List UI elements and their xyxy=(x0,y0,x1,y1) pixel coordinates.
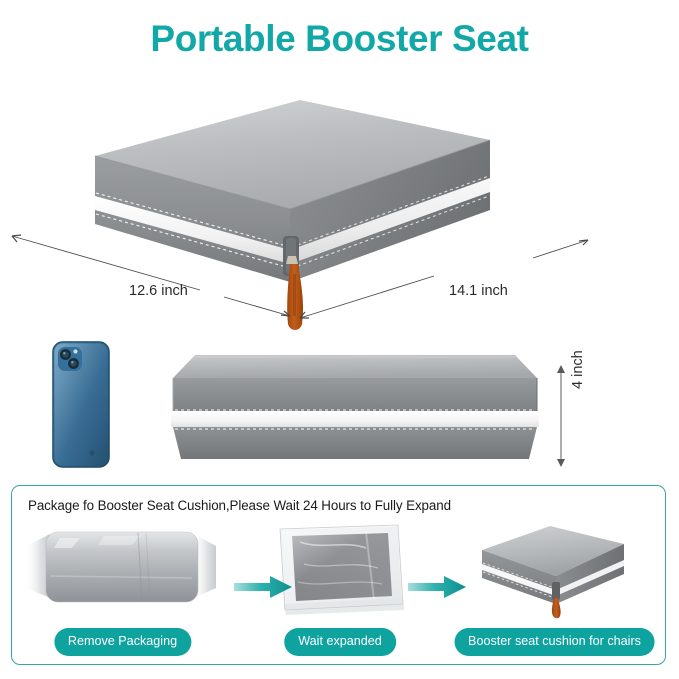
dimension-depth-label: 14.1 inch xyxy=(449,283,508,299)
height-dimension-arrow xyxy=(548,362,574,470)
hero-product-image xyxy=(0,78,679,338)
dimension-width-label: 12.6 inch xyxy=(129,283,188,299)
vertical-arrow-icon xyxy=(548,362,574,470)
package-step-1-caption: Remove Packaging xyxy=(54,628,191,656)
package-step-2-caption: Wait expanded xyxy=(284,628,396,656)
booster-seat-3d-illustration xyxy=(0,78,679,338)
expanded-cushion-icon xyxy=(452,516,657,620)
smartphone-size-reference xyxy=(52,341,110,468)
package-step-3-caption: Booster seat cushion for chairs xyxy=(454,628,655,656)
package-instruction-panel: Package fo Booster Seat Cushion,Please W… xyxy=(11,485,666,665)
package-panel-heading: Package fo Booster Seat Cushion,Please W… xyxy=(28,498,451,513)
package-step-1: Remove Packaging xyxy=(20,516,225,666)
page-title: Portable Booster Seat xyxy=(0,18,679,60)
rolled-cushion-in-plastic-icon xyxy=(20,516,225,620)
flat-cushion-in-plastic-icon xyxy=(270,516,410,620)
booster-seat-side-view xyxy=(163,345,548,468)
arrow-right-icon-2 xyxy=(408,574,468,600)
arrow-right-icon-1 xyxy=(234,574,294,600)
booster-seat-side-illustration xyxy=(163,345,548,468)
package-step-3: Booster seat cushion for chairs xyxy=(452,516,657,666)
smartphone-icon xyxy=(52,341,110,468)
package-steps: Remove Packaging xyxy=(12,516,667,666)
